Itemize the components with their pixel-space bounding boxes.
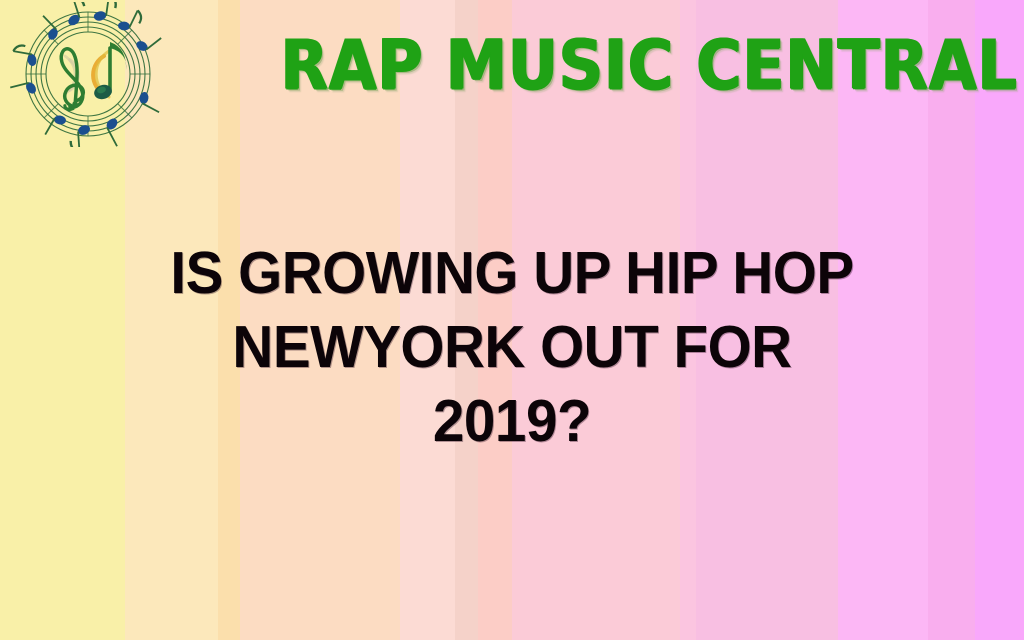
brand-title: RAP MUSIC CENTRAL <box>348 28 1018 100</box>
ring-note <box>92 2 117 24</box>
banner-root: RAP MUSIC CENTRAL IS GROWING UP HIP HOP … <box>0 0 1024 640</box>
ring-note <box>34 15 62 44</box>
headline: IS GROWING UP HIP HOP NEWYORK OUT FOR 20… <box>0 236 1024 458</box>
ring-note <box>10 80 39 100</box>
logo-svg <box>8 2 168 147</box>
ring-note <box>135 89 165 114</box>
staff-ledger-ticks <box>26 12 150 136</box>
ring-note <box>102 115 128 147</box>
ring-note <box>60 2 89 28</box>
music-notes-circle-logo[interactable] <box>8 2 168 147</box>
headline-line-2: NEWYORK OUT FOR <box>20 310 1003 384</box>
headline-line-1: IS GROWING UP HIP HOP <box>20 236 1003 310</box>
ring-note <box>69 123 92 147</box>
brand-title-text: RAP MUSIC CENTRAL <box>281 30 1018 98</box>
ring-note <box>11 44 40 68</box>
treble-clef-icon <box>61 49 83 110</box>
ring-note <box>133 28 162 55</box>
headline-line-3: 2019? <box>20 384 1003 458</box>
